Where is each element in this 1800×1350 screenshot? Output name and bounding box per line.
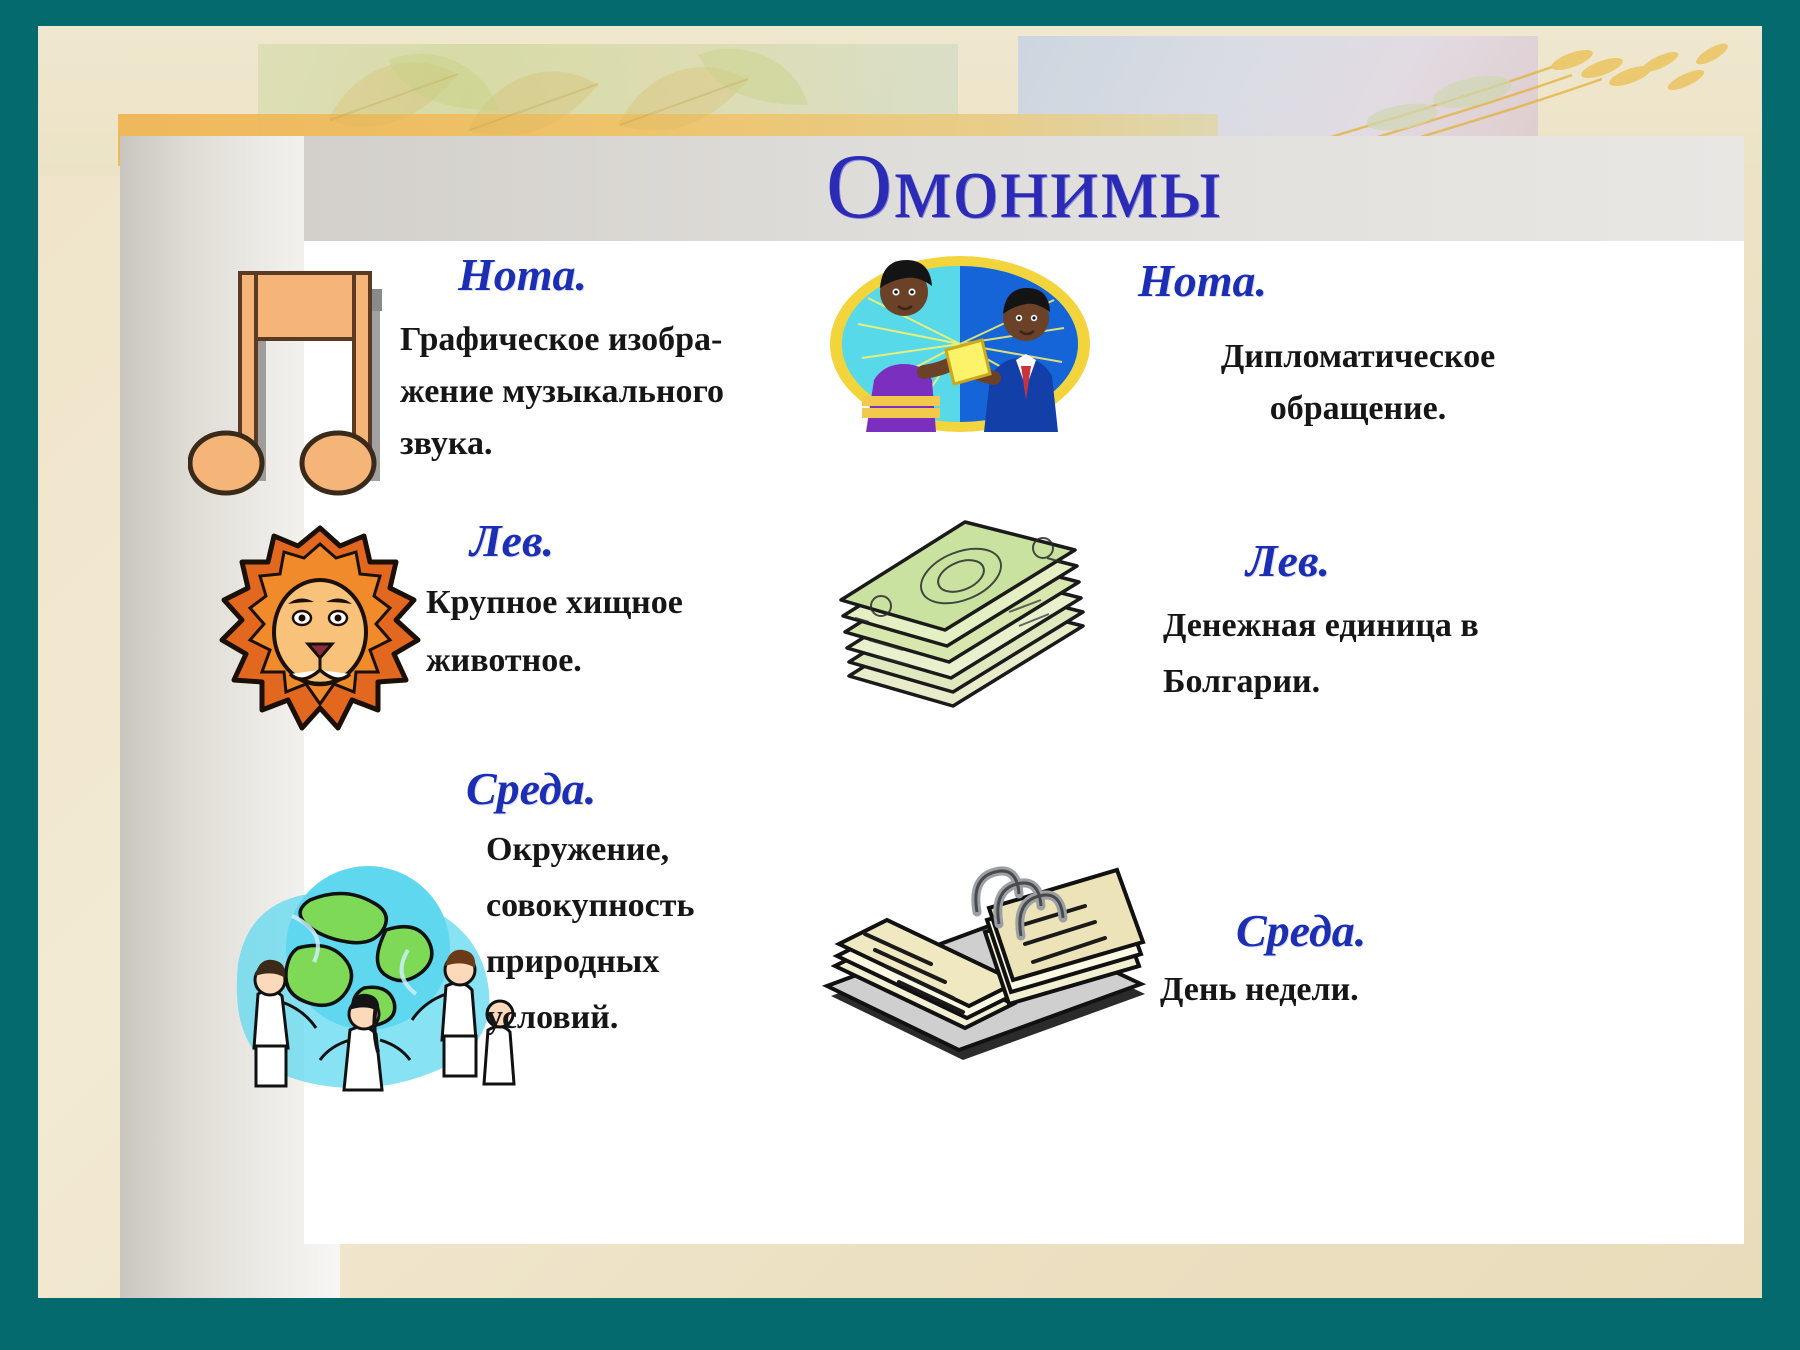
banknotes-icon [833, 506, 1108, 721]
open-diary-book-icon [813, 816, 1163, 1081]
slide-frame: Омонимы Нота. Графическое изобра-жение м… [38, 26, 1762, 1298]
word-definition: День недели. [1160, 964, 1580, 1016]
word-definition: Графическое изобра-жение музыкального зв… [400, 314, 800, 470]
word-heading: Лев. [470, 514, 554, 567]
handshake-diplomats-icon [828, 254, 1093, 434]
word-heading: Среда. [1236, 904, 1366, 957]
word-definition: Окружение, совокупность природных услови… [486, 822, 786, 1046]
page-title: Омонимы [304, 130, 1744, 245]
word-definition: Крупное хищное животное. [426, 574, 786, 690]
word-heading: Лев. [1246, 534, 1330, 587]
word-definition: Денежная единица в Болгарии. [1163, 598, 1563, 710]
word-heading: Нота. [458, 248, 587, 301]
word-heading: Среда. [466, 762, 596, 815]
lion-head-icon [218, 524, 423, 739]
globe-children-icon [218, 844, 518, 1094]
word-heading: Нота. [1138, 254, 1267, 307]
word-definition: Дипломатическое обращение. [1143, 331, 1573, 435]
